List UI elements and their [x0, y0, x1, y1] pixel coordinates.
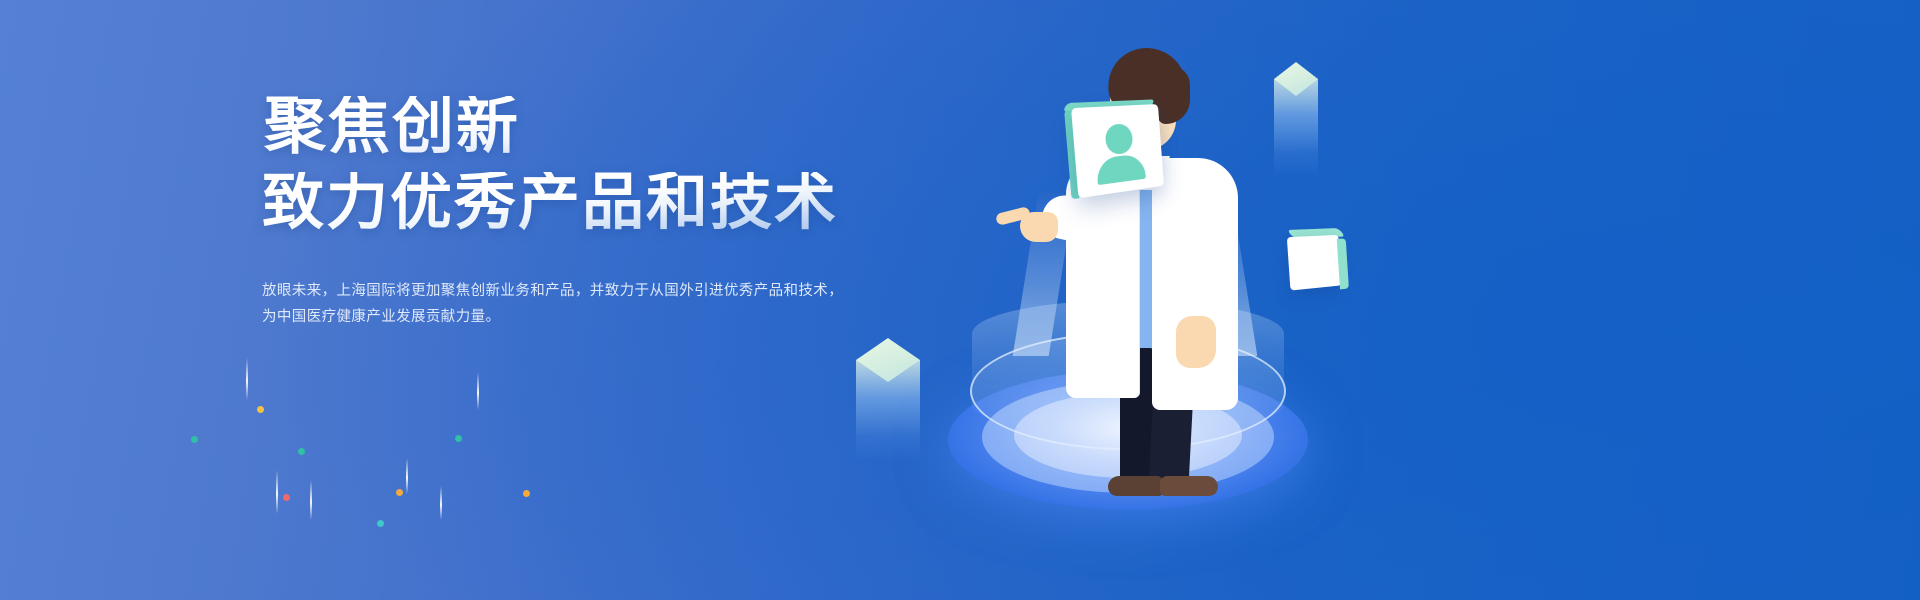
- particle-orange-right: [523, 490, 530, 497]
- avatar-body-shape: [1096, 153, 1146, 185]
- hero-illustration: [930, 0, 1730, 600]
- hero-subcopy: 放眼未来，上海国际将更加聚焦创新业务和产品，并致力于从国外引进优秀产品和技术，为…: [262, 278, 852, 330]
- light-streak-4: [310, 480, 312, 520]
- particle-orange-mid: [396, 489, 403, 496]
- card-side-edge: [1337, 238, 1349, 289]
- particle-cyan-bottom: [377, 520, 384, 527]
- doctor-pointing-hand: [996, 208, 1058, 242]
- avatar-head-shape: [1104, 123, 1133, 155]
- particle-yellow-top: [257, 406, 264, 413]
- particle-teal-mid: [298, 448, 305, 455]
- avatar-card-face: [1071, 104, 1164, 198]
- headline-line-1: 聚焦创新: [264, 96, 902, 158]
- doctor-shoe-right: [1160, 476, 1218, 496]
- light-streak-6: [440, 486, 442, 520]
- light-streak-2: [477, 372, 479, 410]
- particle-teal-left: [191, 436, 198, 443]
- doctor-coat-right: [1152, 158, 1238, 410]
- hero-copy-block: 聚焦创新 致力优秀产品和技术 放眼未来，上海国际将更加聚焦创新业务和产品，并致力…: [262, 96, 902, 330]
- particle-red: [283, 494, 290, 501]
- doctor-shoe-left: [1108, 476, 1164, 496]
- headline-line-2: 致力优秀产品和技术: [262, 172, 902, 234]
- light-streak-3: [276, 470, 278, 514]
- hero-banner: 聚焦创新 致力优秀产品和技术 放眼未来，上海国际将更加聚焦创新业务和产品，并致力…: [0, 0, 1920, 600]
- doctor-right-hand: [1176, 316, 1216, 368]
- doctor-figure: [1048, 48, 1308, 458]
- doctor-hair-side: [1158, 66, 1190, 124]
- user-avatar-icon: [1071, 104, 1164, 198]
- light-streak-5: [406, 458, 408, 494]
- light-streak-1: [246, 358, 248, 400]
- particle-teal-right: [455, 435, 462, 442]
- decor-column-bottom: [856, 338, 920, 458]
